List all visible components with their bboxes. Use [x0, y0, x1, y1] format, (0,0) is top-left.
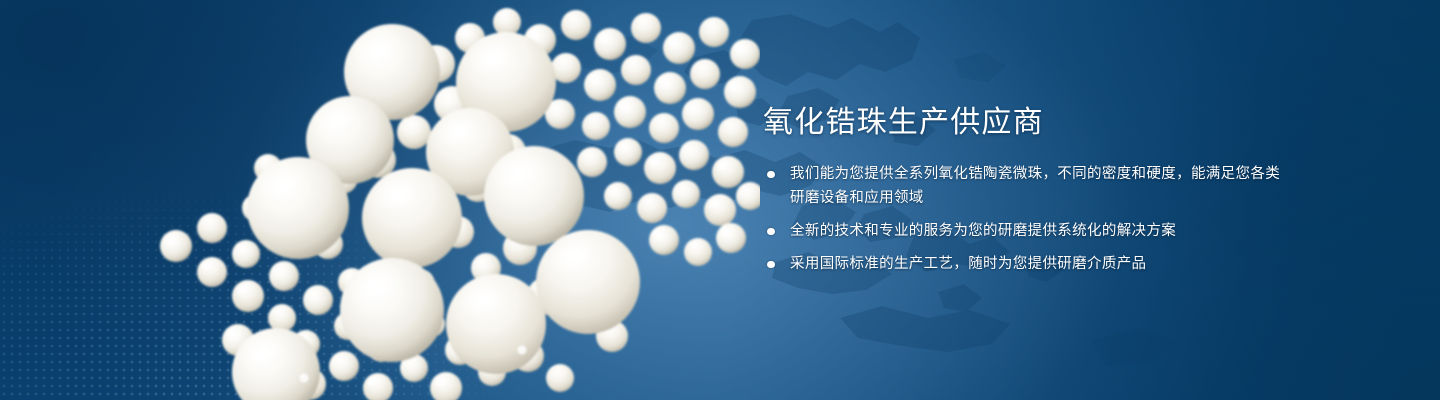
bullet-dot-icon — [767, 171, 775, 179]
list-item-label: 我们能为您提供全系列氧化锆陶瓷微珠，不同的密度和硬度，能满足您各类研磨设备和应用… — [790, 162, 1283, 210]
feature-list: 我们能为您提供全系列氧化锆陶瓷微珠，不同的密度和硬度，能满足您各类研磨设备和应用… — [763, 162, 1283, 276]
list-item: 我们能为您提供全系列氧化锆陶瓷微珠，不同的密度和硬度，能满足您各类研磨设备和应用… — [763, 162, 1283, 210]
page-title: 氧化锆珠生产供应商 — [763, 104, 1283, 142]
list-item: 全新的技术和专业的服务为您的研磨提供系统化的解决方案 — [763, 219, 1283, 243]
list-item-label: 全新的技术和专业的服务为您的研磨提供系统化的解决方案 — [790, 219, 1283, 243]
zirconia-bead-cluster-image — [0, 0, 760, 400]
list-item: 采用国际标准的生产工艺，随时为您提供研磨介质产品 — [763, 252, 1283, 276]
banner-copy: 氧化锆珠生产供应商 我们能为您提供全系列氧化锆陶瓷微珠，不同的密度和硬度，能满足… — [763, 104, 1283, 276]
list-item-label: 采用国际标准的生产工艺，随时为您提供研磨介质产品 — [790, 252, 1283, 276]
hero-banner: 氧化锆珠生产供应商 我们能为您提供全系列氧化锆陶瓷微珠，不同的密度和硬度，能满足… — [0, 0, 1440, 400]
bullet-dot-icon — [767, 261, 775, 269]
bullet-dot-icon — [767, 228, 775, 236]
